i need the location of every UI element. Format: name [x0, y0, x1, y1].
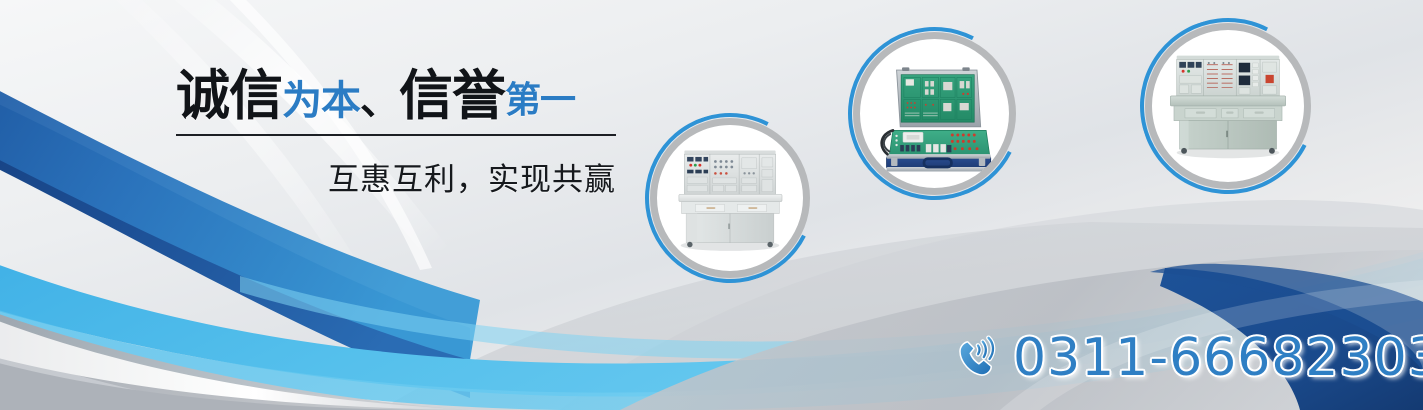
slogan-divider	[176, 134, 616, 136]
phone-number[interactable]: 0311-66682303	[1013, 328, 1423, 388]
promotional-banner: 诚信为本、信誉第一 互惠互利，实现共赢	[0, 0, 1423, 410]
product-circle-training-case[interactable]	[853, 32, 1016, 195]
contact-block[interactable]: 0311-66682303	[955, 328, 1423, 388]
slogan-part-diyi: 第一	[505, 80, 575, 121]
slogan-subtitle: 互惠互利，实现共赢	[176, 154, 616, 199]
slogan-part-weiben: 为本	[282, 78, 360, 124]
phone-call-icon	[955, 335, 1001, 381]
slogan-headline: 诚信为本、信誉第一	[176, 68, 628, 125]
product-circle-workbench-2[interactable]	[1145, 23, 1311, 189]
slogan-part-comma: 、	[360, 78, 399, 124]
slogan-part-chengxin: 诚信	[176, 64, 282, 127]
product-circle-workbench-1[interactable]	[650, 118, 810, 278]
slogan-part-xinyu: 信誉	[399, 64, 505, 127]
slogan-block: 诚信为本、信誉第一 互惠互利，实现共赢	[176, 68, 628, 199]
